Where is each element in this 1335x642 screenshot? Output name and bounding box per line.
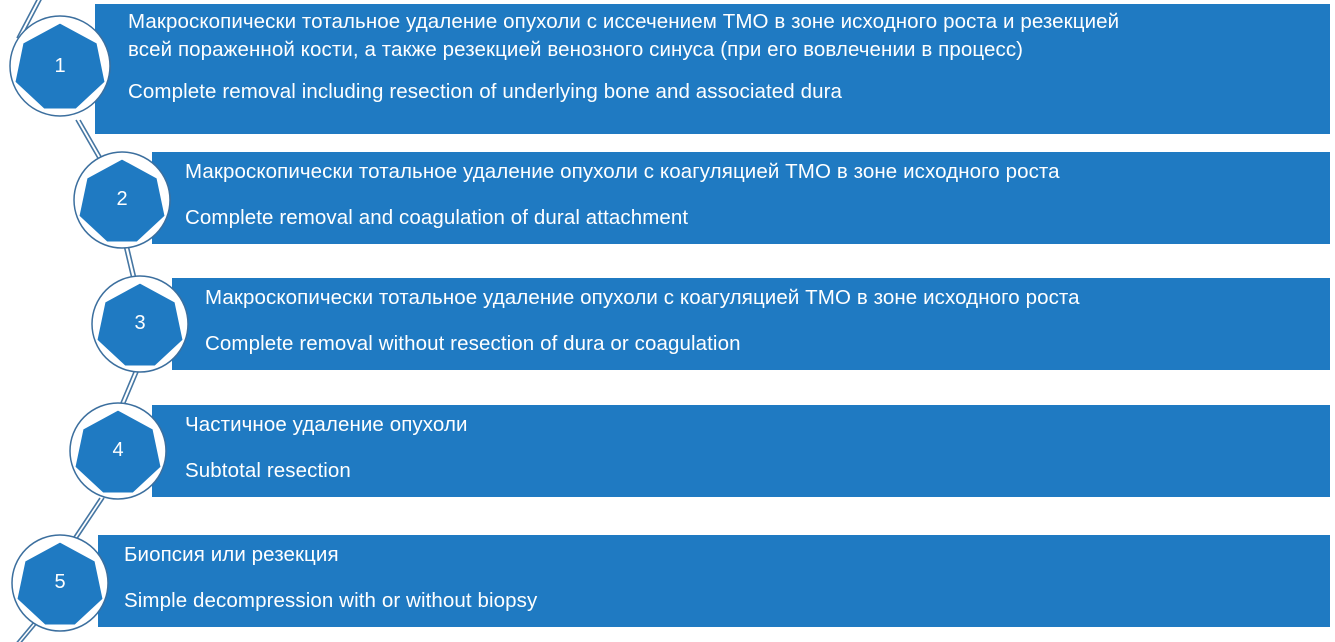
step-1-label-ru: Макроскопически тотальное удаление опухо…	[128, 8, 1119, 36]
step-5-label-en: Simple decompression with or without bio…	[124, 587, 537, 615]
step-2-label-ru: Макроскопически тотальное удаление опухо…	[185, 158, 1060, 186]
step-marker-3[interactable]	[90, 274, 190, 374]
step-2-label-en: Complete removal and coagulation of dura…	[185, 204, 688, 232]
step-4-label-en: Subtotal resection	[185, 457, 351, 485]
step-3-label-en: Complete removal without resection of du…	[205, 330, 741, 358]
step-4-label-ru: Частичное удаление опухоли	[185, 411, 468, 439]
step-1-label-en: Complete removal including resection of …	[128, 78, 842, 106]
step-marker-1[interactable]	[8, 12, 112, 120]
step-5-label-ru: Биопсия или резекция	[124, 541, 339, 569]
simpson-grade-diagram: Макроскопически тотальное удаление опухо…	[0, 0, 1335, 642]
step-3-label-ru: Макроскопически тотальное удаление опухо…	[205, 284, 1080, 312]
step-marker-5[interactable]	[10, 533, 110, 633]
step-marker-4[interactable]	[68, 401, 168, 501]
step-1-label-ru-2: всей пораженной кости, а также резекцией…	[128, 36, 1023, 64]
step-marker-2[interactable]	[72, 150, 172, 250]
